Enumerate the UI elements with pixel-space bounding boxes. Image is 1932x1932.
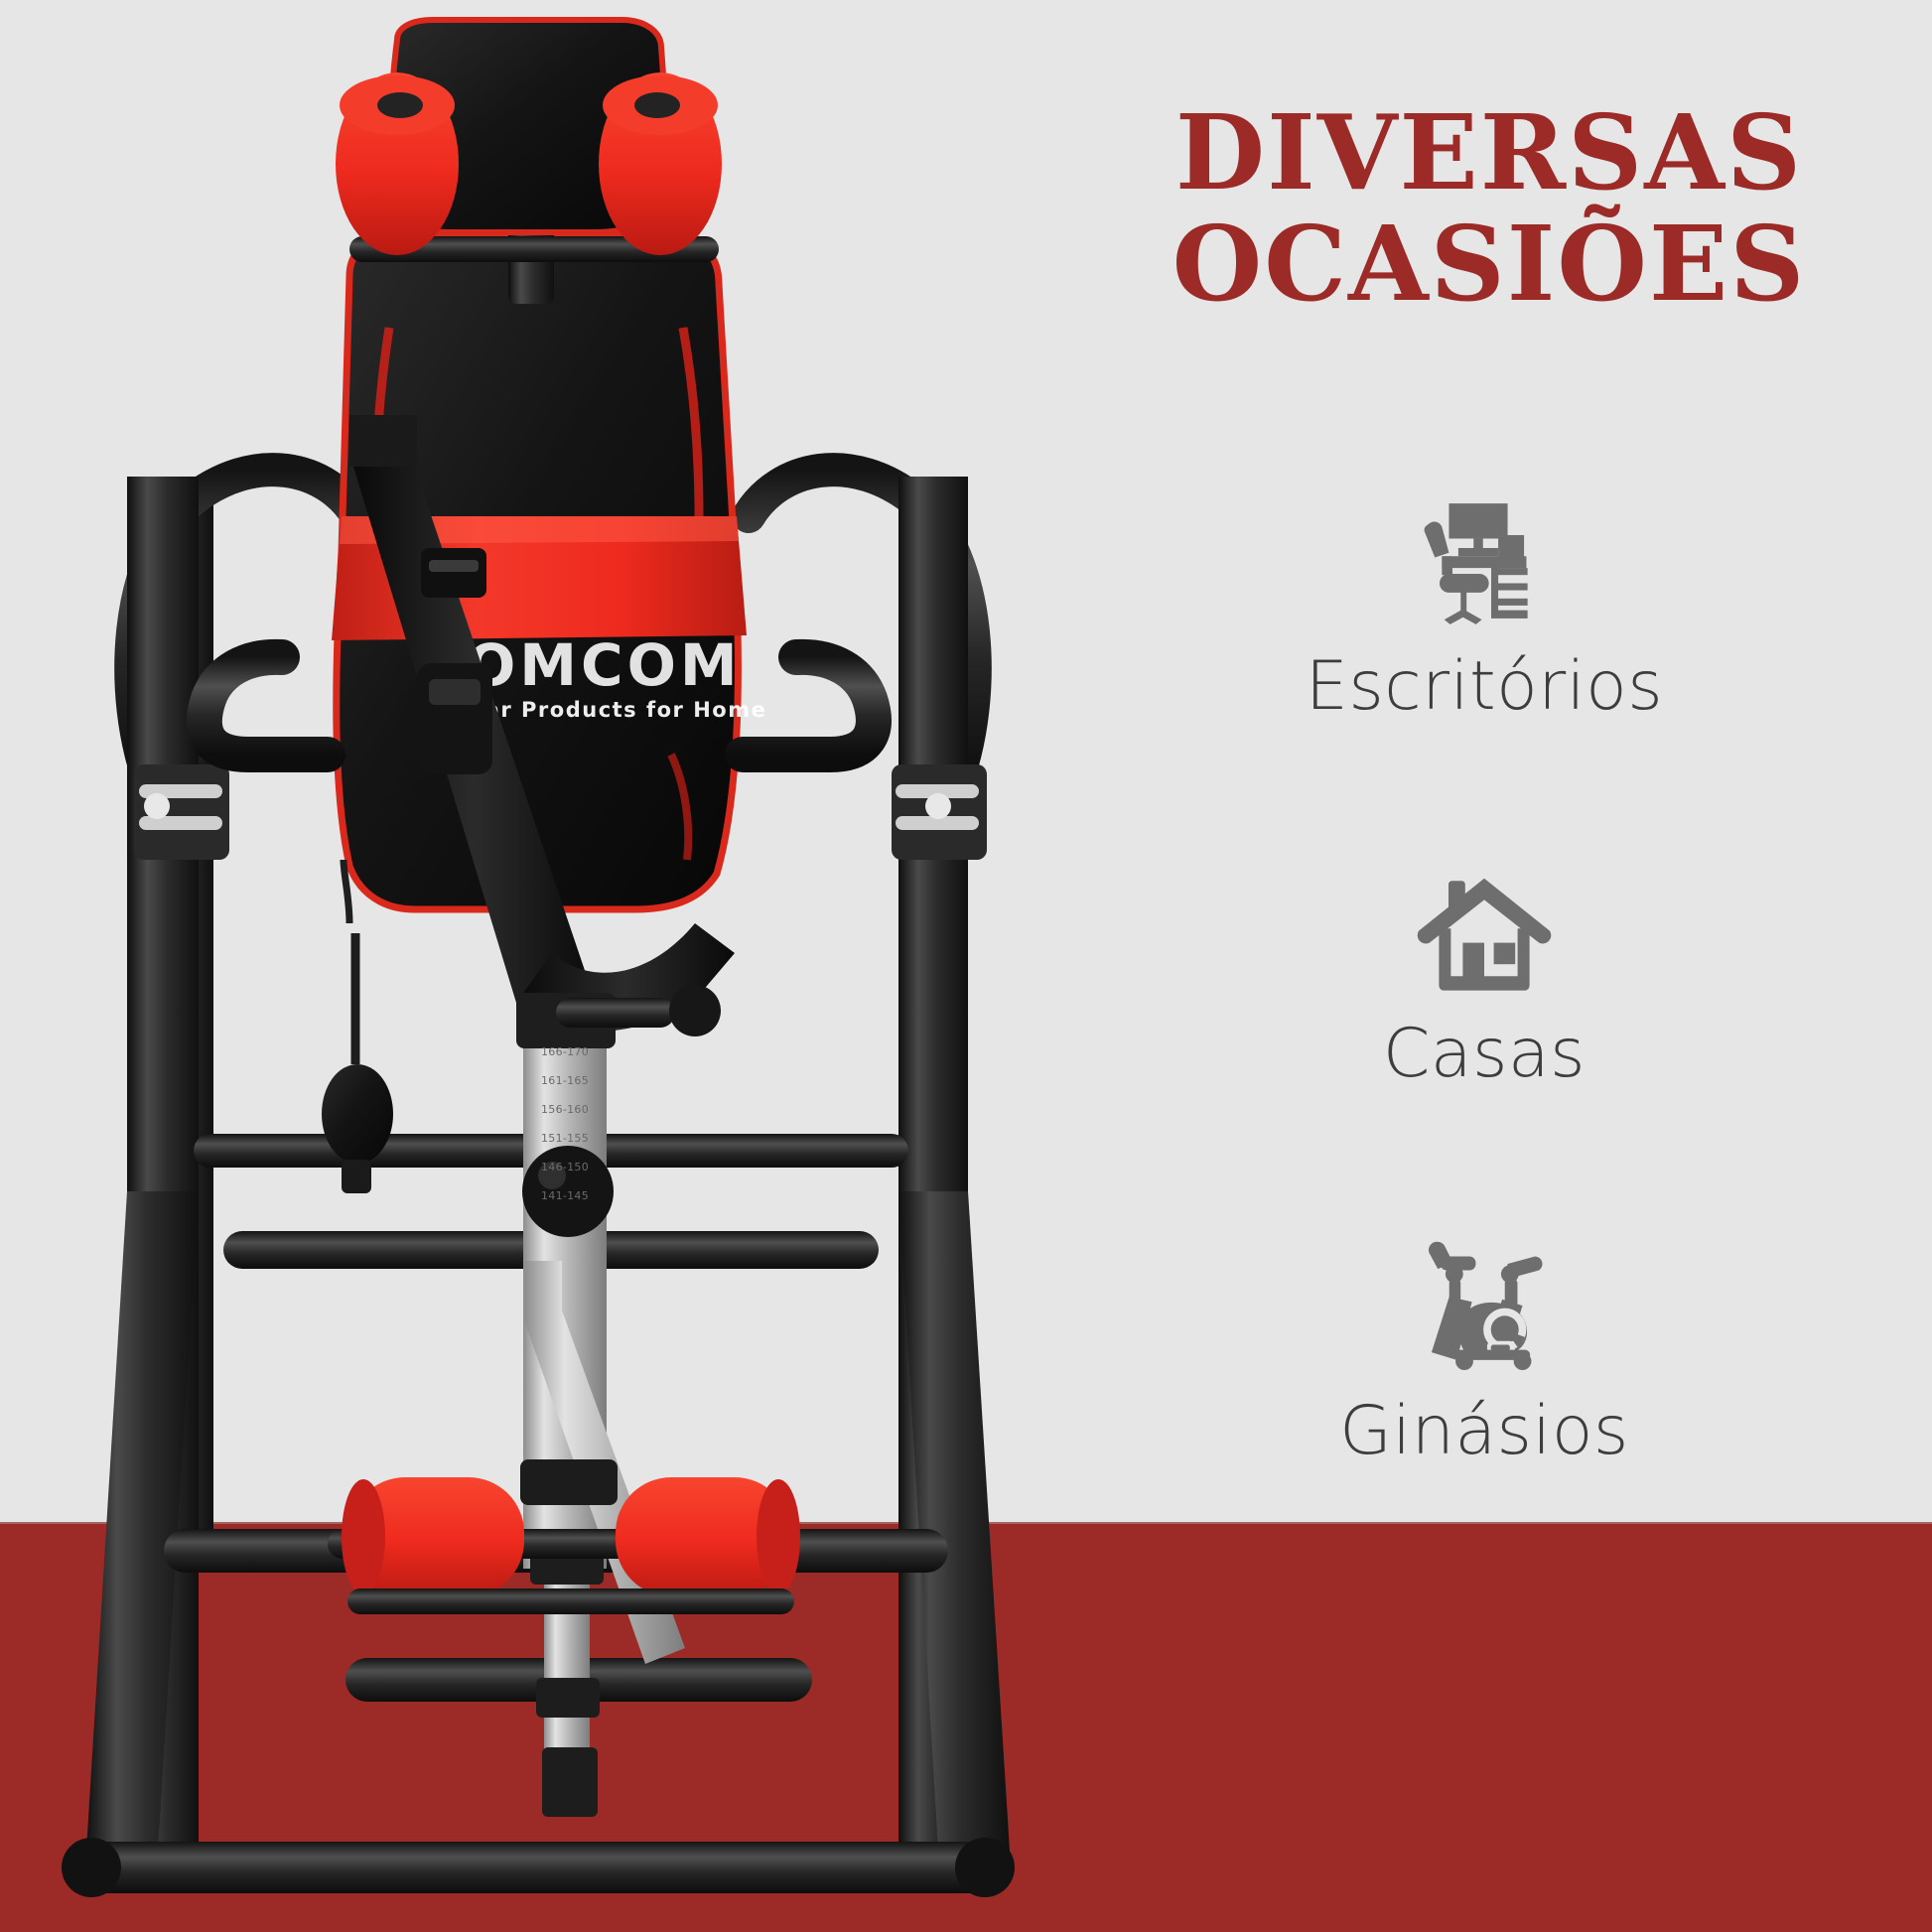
height-scale-tick: 156-160 xyxy=(530,1095,600,1124)
feature-offices: Escritórios xyxy=(1206,496,1762,726)
height-scale-tick: 166-170 xyxy=(530,1037,600,1066)
headline-line-1: DIVERSAS xyxy=(1175,91,1803,213)
feature-label-gyms: Ginásios xyxy=(1206,1392,1762,1470)
house-icon xyxy=(1413,874,1556,993)
height-scale-tick: 151-155 xyxy=(530,1124,600,1153)
svg-text:lar Products for Home: lar Products for Home xyxy=(477,698,766,722)
handle-bar-left xyxy=(205,657,328,755)
pump-bulb xyxy=(322,860,393,1193)
headrest-roller-left xyxy=(336,72,459,255)
feature-houses: Casas xyxy=(1206,874,1762,1093)
promo-banner: OMCOM lar Products for Home xyxy=(0,0,1932,1932)
feature-label-offices: Escritórios xyxy=(1206,647,1762,726)
height-scale-labels: 166-170 161-165 156-160 151-155 146-150 … xyxy=(530,1037,600,1210)
ankle-roller-outer-left xyxy=(342,1477,524,1596)
headrest-assembly xyxy=(336,20,722,304)
feature-gyms: Ginásios xyxy=(1206,1231,1762,1470)
height-scale-tick: 161-165 xyxy=(530,1066,600,1095)
headline: DIVERSAS OCASIÕES xyxy=(1082,97,1896,321)
headline-line-2: OCASIÕES xyxy=(1082,208,1896,320)
ankle-roller-outer-right xyxy=(616,1477,800,1596)
feature-label-houses: Casas xyxy=(1206,1015,1762,1093)
height-scale-tick: 141-145 xyxy=(530,1181,600,1210)
brand-logo-print: OMCOM lar Products for Home xyxy=(467,631,766,722)
height-scale-tick: 146-150 xyxy=(530,1153,600,1181)
exercise-bike-icon xyxy=(1409,1231,1561,1370)
ankle-rollers xyxy=(328,1459,800,1614)
office-desk-icon xyxy=(1414,496,1555,625)
svg-text:OMCOM: OMCOM xyxy=(467,631,742,699)
headrest-roller-right xyxy=(599,72,722,255)
